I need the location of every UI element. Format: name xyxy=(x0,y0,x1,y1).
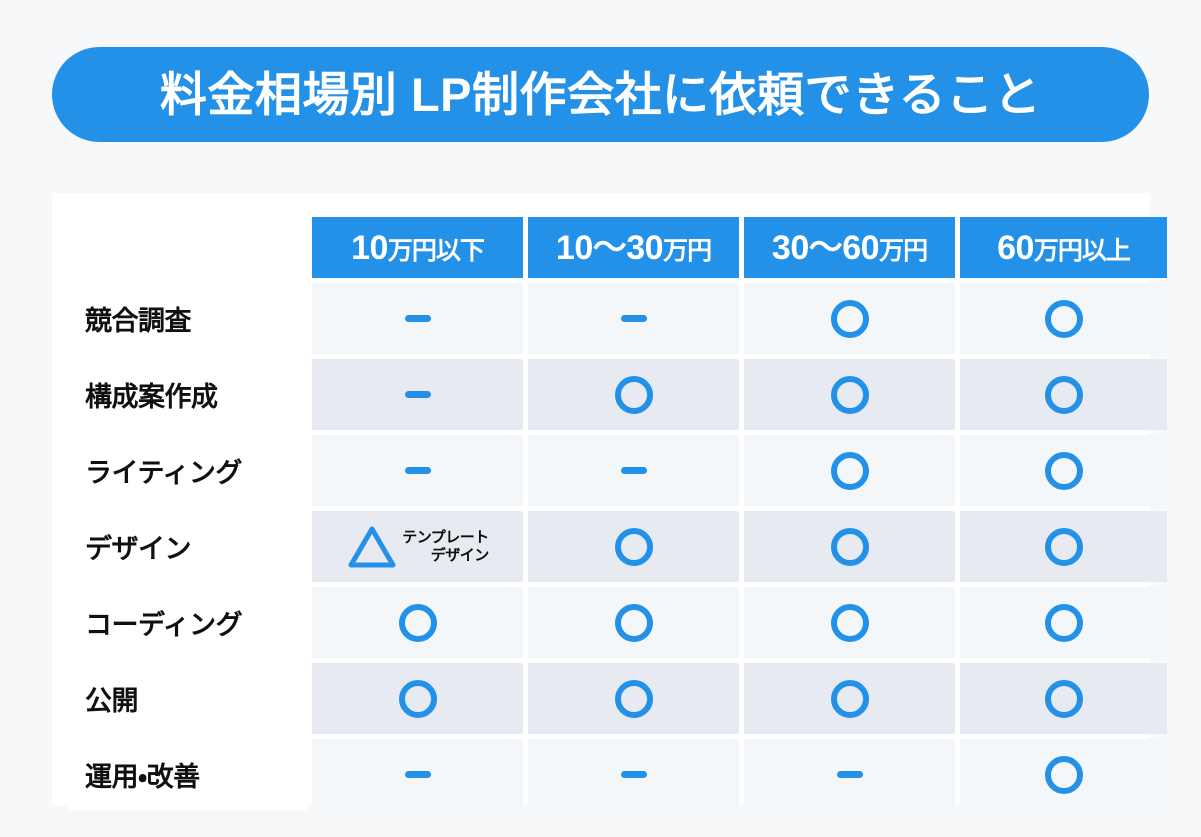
column-header-1: 10万円以下 xyxy=(312,217,523,278)
dash-icon xyxy=(621,771,647,778)
table-cell xyxy=(528,283,739,354)
table-cell xyxy=(960,739,1167,810)
circle-icon xyxy=(615,604,653,642)
infographic-page: 料金相場別 LP制作会社に依頼できること 10万円以下10〜30万円30〜60万… xyxy=(0,0,1201,837)
dash-icon xyxy=(621,467,647,474)
table-cell xyxy=(312,359,523,430)
row-label-4: デザイン xyxy=(68,511,307,582)
column-header-4: 60万円以上 xyxy=(960,217,1167,278)
circle-icon xyxy=(831,604,869,642)
page-title-banner: 料金相場別 LP制作会社に依頼できること xyxy=(52,47,1149,142)
table-cell xyxy=(744,283,955,354)
circle-icon xyxy=(831,680,869,718)
circle-icon xyxy=(1045,452,1083,490)
row-label-7: 運用・改善 xyxy=(68,739,307,810)
table-cell xyxy=(312,283,523,354)
comparison-card: 10万円以下10〜30万円30〜60万円60万円以上競合調査構成案作成ライティン… xyxy=(52,193,1150,805)
pricing-comparison-table: 10万円以下10〜30万円30〜60万円60万円以上競合調査構成案作成ライティン… xyxy=(52,193,1150,810)
template-design-line1: テンプレート xyxy=(402,529,489,546)
table-corner-cell xyxy=(68,217,307,278)
column-header-label: 10〜30万円 xyxy=(556,231,711,265)
circle-icon xyxy=(615,528,653,566)
table-cell xyxy=(312,739,523,810)
column-header-unit: 万円 xyxy=(663,239,711,264)
table-cell xyxy=(528,435,739,506)
circle-icon xyxy=(399,604,437,642)
table-cell xyxy=(960,359,1167,430)
table-cell xyxy=(744,663,955,734)
table-cell xyxy=(960,587,1167,658)
table-cell xyxy=(312,587,523,658)
circle-icon xyxy=(831,528,869,566)
circle-icon xyxy=(1045,756,1083,794)
table-cell xyxy=(960,663,1167,734)
table-cell xyxy=(312,435,523,506)
template-design-mark: テンプレートデザイン xyxy=(346,523,489,571)
dash-icon xyxy=(405,771,431,778)
circle-icon xyxy=(1045,604,1083,642)
template-design-line2: デザイン xyxy=(402,547,489,564)
row-label-6: 公開 xyxy=(68,663,307,734)
table-cell xyxy=(528,739,739,810)
table-grid: 10万円以下10〜30万円30〜60万円60万円以上競合調査構成案作成ライティン… xyxy=(52,193,1150,810)
column-header-unit: 万円以上 xyxy=(1034,239,1130,264)
table-cell xyxy=(528,587,739,658)
column-header-label: 10万円以下 xyxy=(351,231,484,265)
column-header-number: 10〜30 xyxy=(556,231,663,265)
column-header-3: 30〜60万円 xyxy=(744,217,955,278)
column-header-label: 60万円以上 xyxy=(997,231,1130,265)
circle-icon xyxy=(399,680,437,718)
circle-icon xyxy=(831,452,869,490)
table-cell xyxy=(528,511,739,582)
table-cell xyxy=(744,511,955,582)
dash-icon xyxy=(405,467,431,474)
row-label-3: ライティング xyxy=(68,435,307,506)
column-header-2: 10〜30万円 xyxy=(528,217,739,278)
circle-icon xyxy=(615,680,653,718)
dash-icon xyxy=(621,315,647,322)
column-header-number: 30〜60 xyxy=(772,231,879,265)
circle-icon xyxy=(615,376,653,414)
circle-icon xyxy=(1045,680,1083,718)
table-cell xyxy=(312,663,523,734)
dash-icon xyxy=(837,771,863,778)
column-header-number: 60 xyxy=(997,231,1034,265)
table-cell xyxy=(528,663,739,734)
page-title: 料金相場別 LP制作会社に依頼できること xyxy=(160,71,1041,118)
row-label-5: コーディング xyxy=(68,587,307,658)
dash-icon xyxy=(405,391,431,398)
dash-icon xyxy=(405,315,431,322)
circle-icon xyxy=(1045,300,1083,338)
table-cell: テンプレートデザイン xyxy=(312,511,523,582)
circle-icon xyxy=(1045,528,1083,566)
column-header-unit: 万円以下 xyxy=(388,239,484,264)
column-header-label: 30〜60万円 xyxy=(772,231,927,265)
row-label-1: 競合調査 xyxy=(68,283,307,354)
table-cell xyxy=(744,435,955,506)
table-cell xyxy=(744,587,955,658)
table-cell xyxy=(744,739,955,810)
circle-icon xyxy=(1045,376,1083,414)
circle-icon xyxy=(831,376,869,414)
table-cell xyxy=(744,359,955,430)
triangle-icon xyxy=(346,523,398,571)
table-cell xyxy=(960,511,1167,582)
table-cell xyxy=(960,435,1167,506)
table-cell xyxy=(960,283,1167,354)
template-design-text: テンプレートデザイン xyxy=(402,529,489,564)
row-label-2: 構成案作成 xyxy=(68,359,307,430)
column-header-number: 10 xyxy=(351,231,388,265)
circle-icon xyxy=(831,300,869,338)
column-header-unit: 万円 xyxy=(879,239,927,264)
table-cell xyxy=(528,359,739,430)
